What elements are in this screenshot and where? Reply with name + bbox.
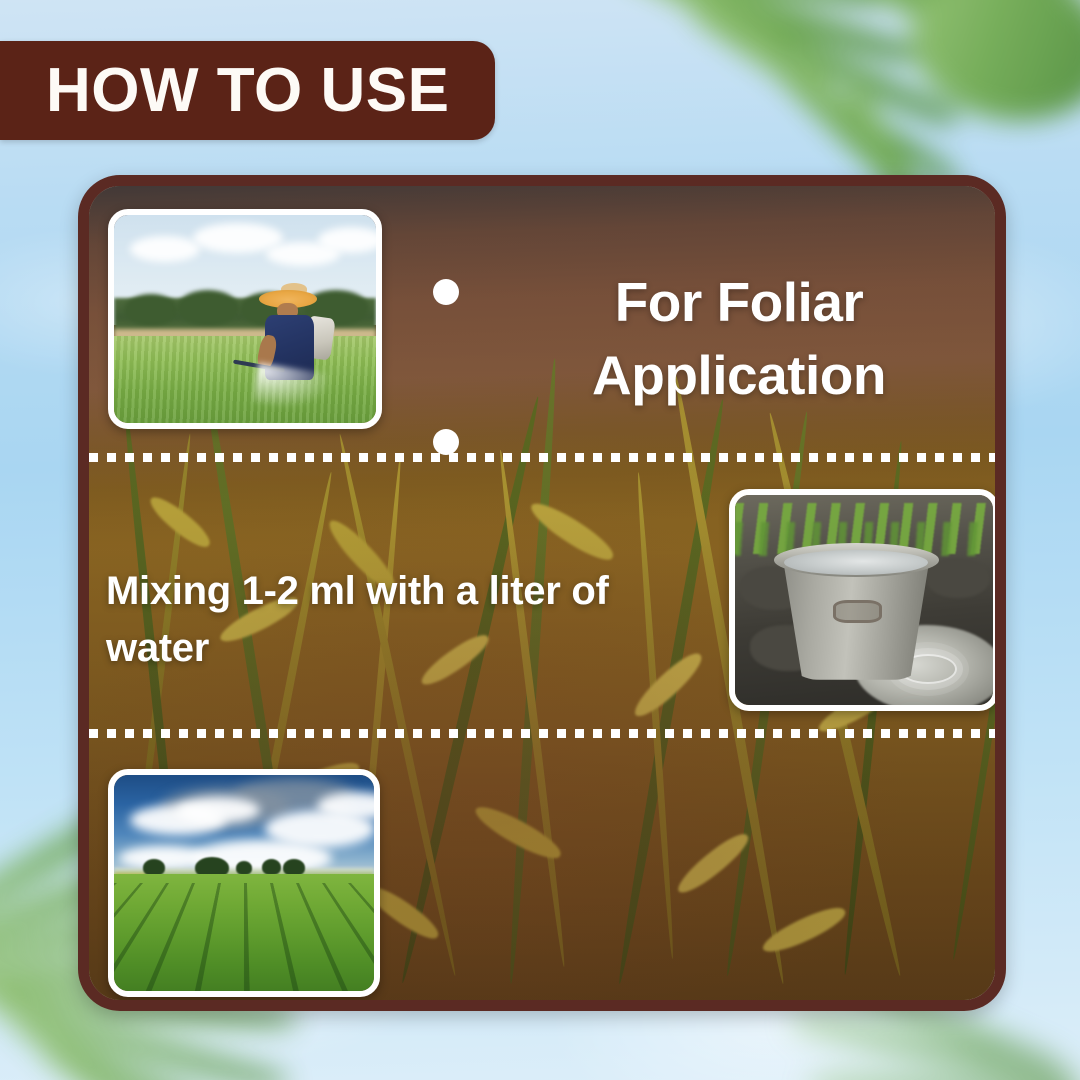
section-divider-1 <box>89 453 995 462</box>
foliar-heading: For Foliar Application <box>499 266 979 412</box>
crop-field-photo <box>108 769 380 997</box>
photo3-crop-rows <box>114 883 374 991</box>
how-to-use-card: For Foliar Application Mixing 1-2 ml wit… <box>78 175 1006 1011</box>
page-title: HOW TO USE <box>46 60 449 122</box>
photo1-farmer <box>263 290 342 402</box>
section-divider-2 <box>89 729 995 738</box>
water-bucket-photo <box>729 489 999 711</box>
photo2-bucket-water <box>784 550 928 575</box>
mixing-instruction-text: Mixing 1-2 ml with a liter of water <box>106 563 696 677</box>
bullet-dot-2 <box>433 429 459 455</box>
foliar-heading-line1: For Foliar <box>499 266 979 339</box>
title-banner: HOW TO USE <box>0 41 495 140</box>
bullet-dot-1 <box>433 279 459 305</box>
foliar-heading-line2: Application <box>499 339 979 412</box>
farmer-spraying-photo <box>108 209 382 429</box>
poster-stage: HOW TO USE <box>0 0 1080 1080</box>
photo2-bucket-handle <box>833 600 882 623</box>
